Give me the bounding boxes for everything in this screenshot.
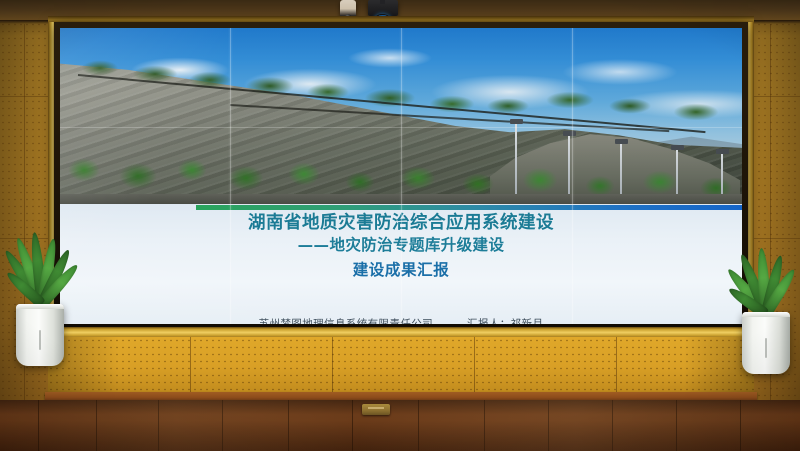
conference-room-scene: 湖南省地质灾害防治综合应用系统建设 ——地灾防治专题库升级建设 建设成果汇报 苏… (0, 0, 800, 451)
video-wall-display[interactable]: 湖南省地质灾害防治综合应用系统建设 ——地灾防治专题库升级建设 建设成果汇报 苏… (60, 28, 742, 324)
plant-foliage-right (738, 248, 794, 314)
plant-pot-left (16, 304, 64, 366)
lower-acoustic-panel (48, 337, 754, 395)
plant-pot-right (742, 312, 790, 374)
floor-outlet-cover (362, 404, 390, 415)
video-wall-seam-vertical (401, 28, 402, 324)
snake-plant-right (732, 250, 800, 370)
plant-pot-rim (742, 312, 790, 317)
plant-pot-rim (16, 304, 64, 309)
floor-reflection (0, 400, 800, 451)
lower-panel-perforation (48, 337, 754, 395)
snake-plant-left (6, 236, 78, 366)
lower-panel-seam (474, 337, 475, 395)
byline-company: 苏州梦图地理信息系统有限责任公司 (259, 316, 433, 324)
byline-presenter: 汇报人：祁新月 (467, 316, 543, 324)
slide-accent-bar (196, 205, 742, 210)
lower-panel-seam (190, 337, 191, 395)
plant-foliage-left (14, 232, 70, 304)
lower-panel-seam (616, 337, 617, 395)
projector-mount-arm (380, 0, 385, 4)
video-wall-seam-vertical (572, 28, 573, 324)
video-wall-seam-vertical (230, 28, 231, 324)
wood-floor (0, 400, 800, 451)
lower-panel-seam (332, 337, 333, 395)
